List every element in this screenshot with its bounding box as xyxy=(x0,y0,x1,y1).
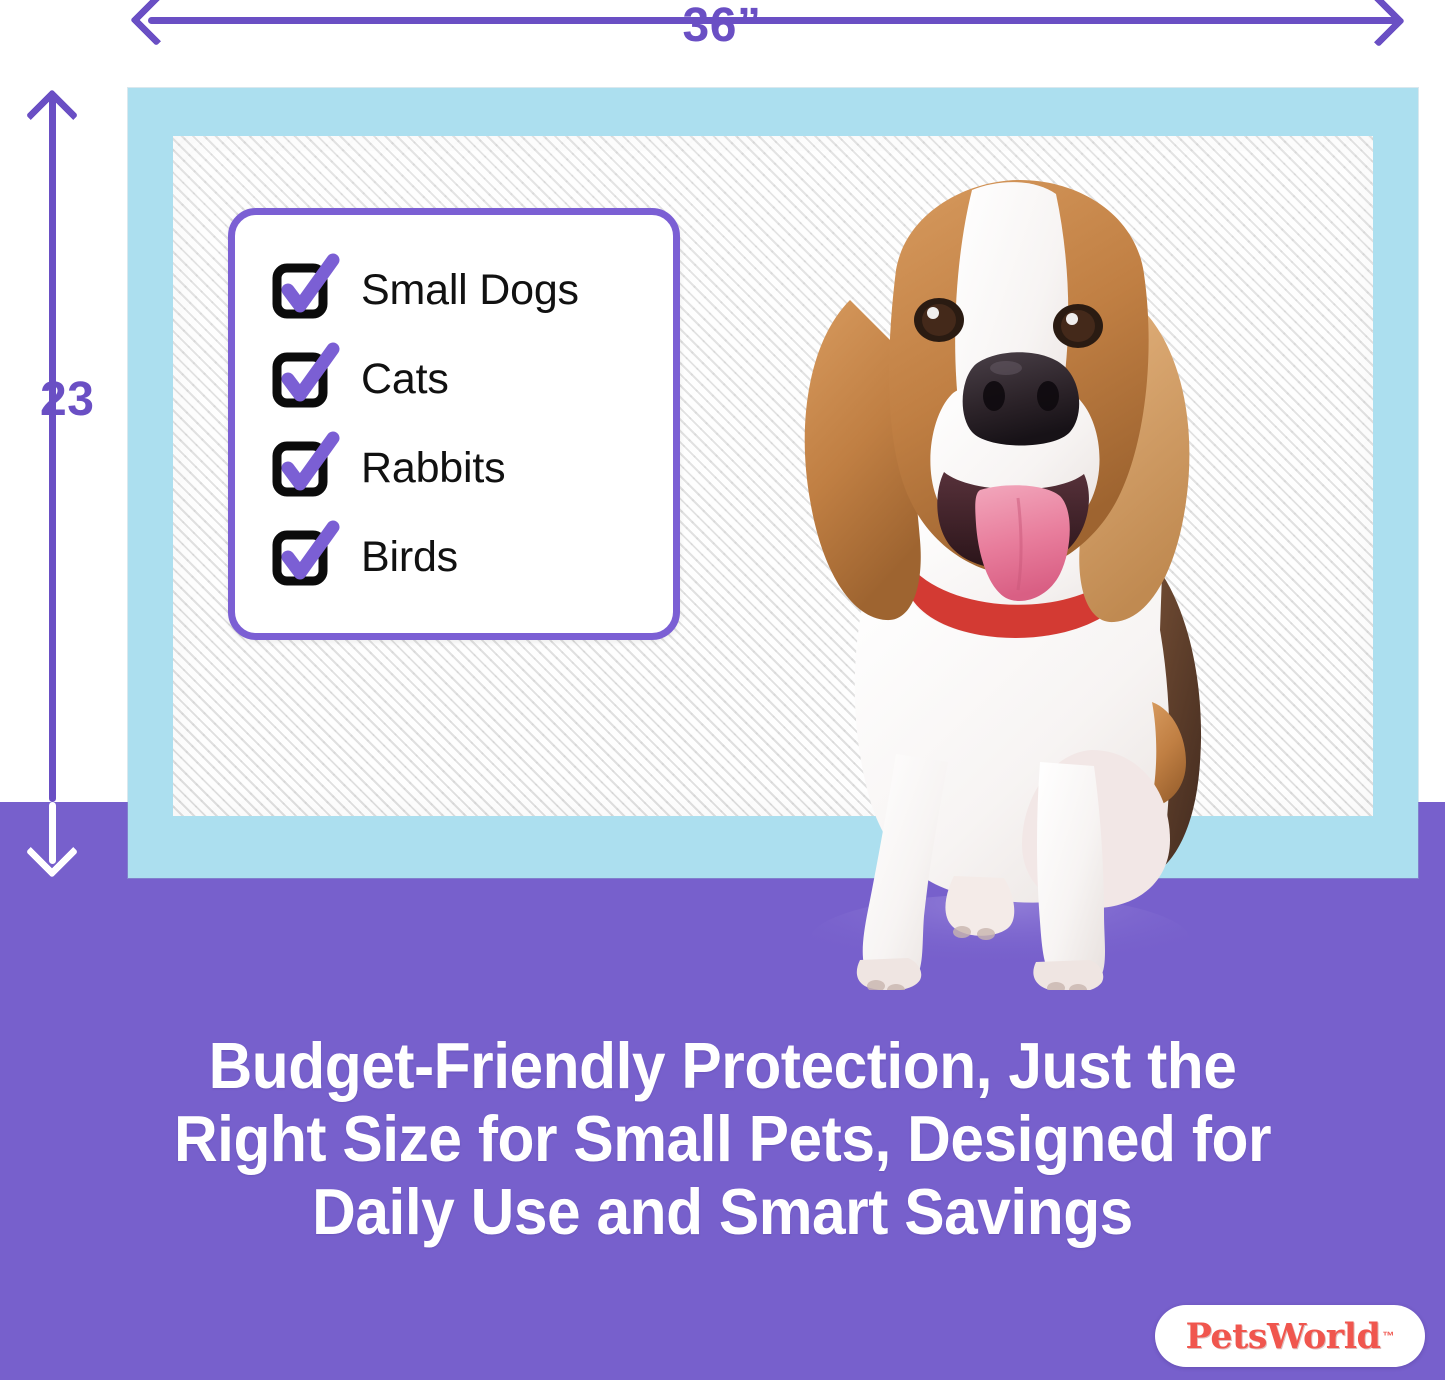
checkbox-checked-icon[interactable] xyxy=(273,527,335,587)
arrow-up-icon xyxy=(26,89,78,141)
list-item-label: Small Dogs xyxy=(361,269,579,312)
trademark-symbol: ™ xyxy=(1383,1329,1395,1343)
height-dimension-line xyxy=(49,96,56,802)
list-item[interactable]: Small Dogs xyxy=(273,259,653,321)
list-item[interactable]: Cats xyxy=(273,348,653,410)
headline-line-1: Budget-Friendly Protection, Just the xyxy=(106,1030,1338,1103)
arrow-right-icon xyxy=(1353,0,1405,47)
headline-line-3: Daily Use and Smart Savings xyxy=(106,1176,1338,1249)
marketing-headline: Budget-Friendly Protection, Just the Rig… xyxy=(51,1030,1395,1248)
width-dimension-line xyxy=(148,17,1400,24)
height-dimension-label: 23 xyxy=(40,376,94,424)
product-infographic: Small Dogs Cats Rabbit xyxy=(0,0,1445,1380)
width-dimension-label: 36” xyxy=(683,2,762,50)
list-item[interactable]: Birds xyxy=(273,526,653,588)
brand-logo-text: PetsWorld xyxy=(1185,1319,1380,1354)
headline-line-2: Right Size for Small Pets, Designed for xyxy=(106,1103,1338,1176)
list-item-label: Birds xyxy=(361,536,458,579)
list-item-label: Rabbits xyxy=(361,447,505,490)
checkbox-checked-icon[interactable] xyxy=(273,438,335,498)
checkbox-checked-icon[interactable] xyxy=(273,349,335,409)
pet-checklist: Small Dogs Cats Rabbit xyxy=(273,259,653,588)
checkbox-checked-icon[interactable] xyxy=(273,260,335,320)
list-item[interactable]: Rabbits xyxy=(273,437,653,499)
brand-logo: PetsWorld ™ xyxy=(1155,1305,1425,1367)
compatible-pets-card: Small Dogs Cats Rabbit xyxy=(228,208,680,640)
arrow-left-icon xyxy=(130,0,182,46)
list-item-label: Cats xyxy=(361,358,449,401)
